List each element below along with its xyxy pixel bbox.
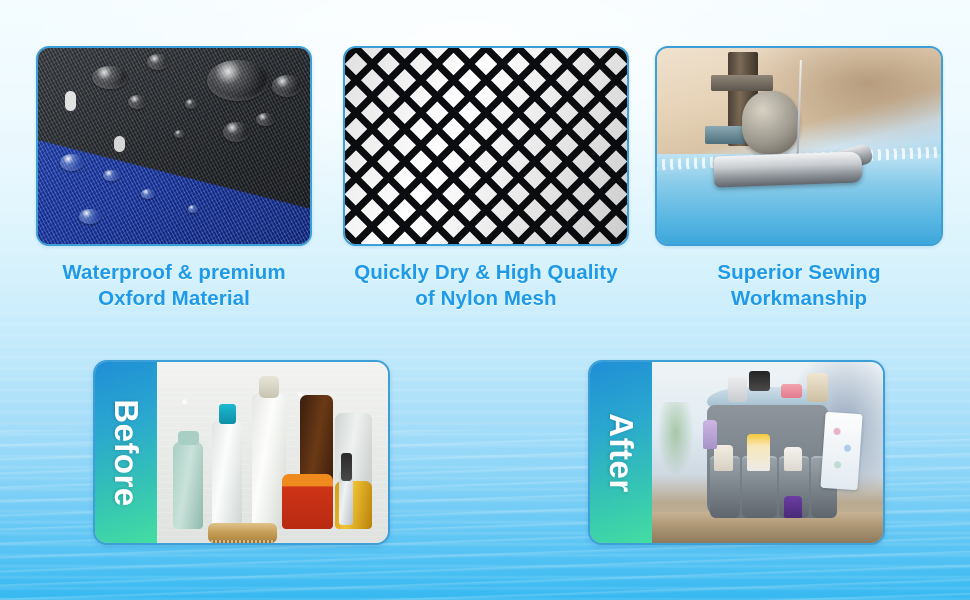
feature-caption-line1: Superior Sewing — [717, 261, 880, 284]
water-droplet — [174, 130, 185, 138]
bottle — [212, 420, 242, 529]
after-card[interactable]: After — [588, 360, 885, 545]
cluttered-wet-shower-bottles-photo — [157, 362, 388, 543]
water-droplet — [147, 54, 169, 70]
pocket-item-bottle — [784, 447, 802, 471]
machine-bracket — [705, 126, 745, 144]
water-droplet — [207, 60, 270, 101]
plant-blur — [657, 402, 694, 478]
sewing-machine-stitching-photo — [655, 46, 943, 246]
before-card[interactable]: Before — [93, 360, 390, 545]
mesh-shading — [345, 48, 627, 244]
feature-caption-line2: of Nylon Mesh — [343, 286, 629, 312]
patterned-towel — [820, 411, 862, 489]
machine-bracket — [711, 75, 773, 91]
presser-foot — [713, 151, 862, 187]
water-droplet — [103, 170, 119, 182]
water-droplet — [141, 189, 155, 199]
feature-caption: Quickly Dry & High Quality of Nylon Mesh — [343, 260, 629, 312]
pocket-item-bottle — [714, 445, 732, 470]
bottle-cap — [178, 431, 199, 445]
pocket-item-bottle — [784, 496, 802, 518]
top-shelf-bottle — [807, 373, 828, 402]
dropper-cap — [341, 453, 353, 482]
nylon-mesh-closeup-photo — [343, 46, 629, 246]
pocket-item-bottle — [703, 420, 717, 449]
feature-card-waterproof-oxford[interactable]: Waterproof & premium Oxford Material — [36, 46, 312, 312]
feature-caption-line1: Waterproof & premium — [62, 261, 285, 284]
bottle — [173, 442, 203, 529]
feature-card-nylon-mesh[interactable]: Quickly Dry & High Quality of Nylon Mesh — [343, 46, 629, 312]
top-shelf-bottle — [728, 377, 746, 402]
before-label-band: Before — [95, 362, 157, 543]
water-droplet — [128, 95, 147, 109]
presser-screw-knob — [742, 91, 799, 154]
before-after-comparison: Before — [0, 330, 970, 600]
orange-red-box — [282, 474, 333, 528]
waterproof-oxford-fabric-photo — [36, 46, 312, 246]
feature-caption-line1: Quickly Dry & High Quality — [354, 261, 617, 284]
feature-caption-line2: Workmanship — [655, 286, 943, 312]
feature-card-sewing-workmanship[interactable]: Superior Sewing Workmanship — [655, 46, 943, 312]
water-droplet — [79, 209, 101, 225]
water-droplet — [272, 75, 302, 97]
pocket-item-bottle — [747, 434, 770, 470]
top-shelf-pump — [749, 371, 770, 391]
water-droplet — [92, 66, 127, 90]
water-streak — [114, 136, 125, 152]
water-droplet — [188, 205, 199, 213]
shower-caddy-organizer-photo — [652, 362, 883, 543]
after-label: After — [602, 413, 640, 493]
water-droplet — [185, 99, 199, 109]
feature-caption-line2: Oxford Material — [36, 286, 312, 312]
water-streak — [65, 91, 76, 111]
before-label: Before — [107, 399, 145, 507]
feature-row: Waterproof & premium Oxford Material Qui… — [0, 0, 970, 330]
bottle-pump — [219, 404, 235, 424]
scrub-brush — [208, 523, 277, 543]
pump-head — [259, 376, 280, 398]
feature-caption: Superior Sewing Workmanship — [655, 260, 943, 312]
feature-caption: Waterproof & premium Oxford Material — [36, 260, 312, 312]
top-shelf-soap — [781, 384, 802, 398]
water-droplet — [256, 113, 275, 127]
water-droplet — [223, 122, 250, 142]
after-label-band: After — [590, 362, 652, 543]
